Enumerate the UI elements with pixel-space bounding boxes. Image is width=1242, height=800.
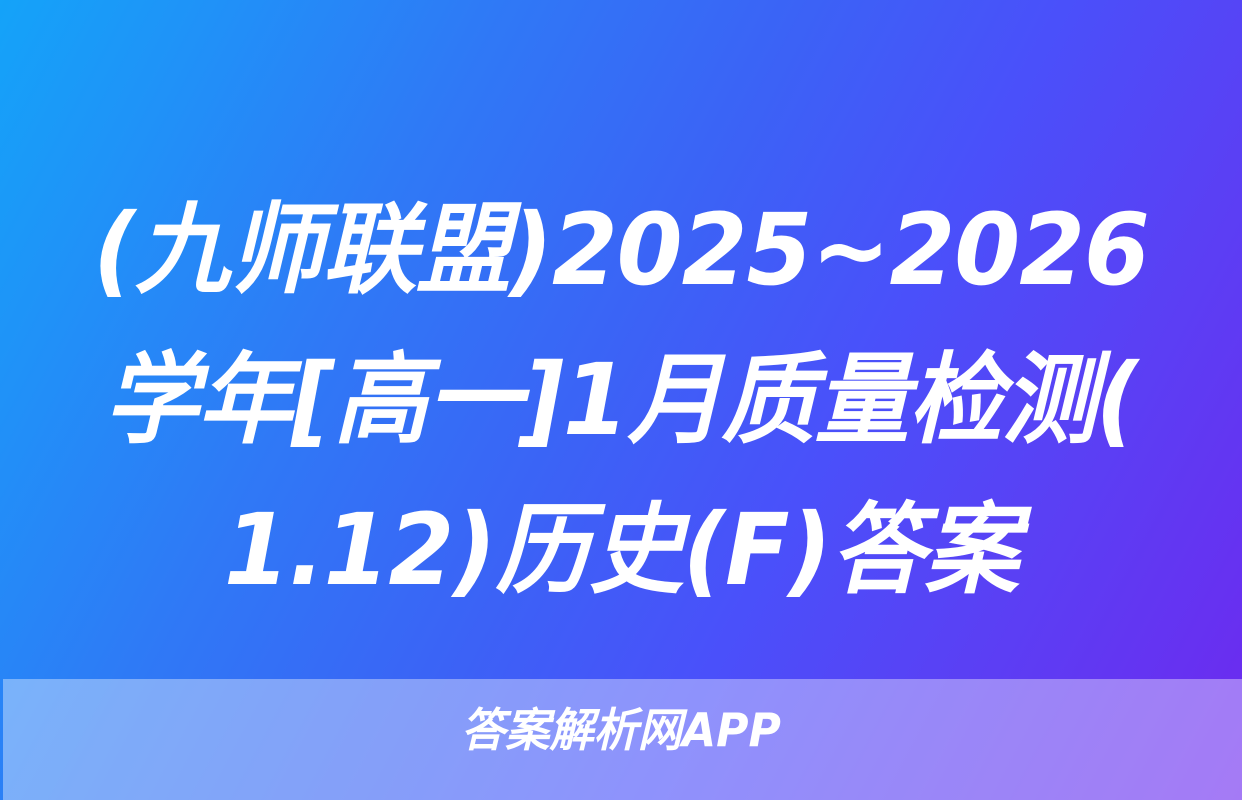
page-title: (九师联盟)2025~2026 学年[高一]1月质量检测( 1.12)历史(F)… bbox=[28, 176, 1214, 626]
poster-canvas: (九师联盟)2025~2026 学年[高一]1月质量检测( 1.12)历史(F)… bbox=[0, 0, 1242, 800]
title-line-1: (九师联盟)2025~2026 bbox=[28, 176, 1214, 326]
app-watermark: 答案解析网APP bbox=[25, 702, 1217, 758]
title-line-3: 1.12)历史(F)答案 bbox=[28, 476, 1214, 626]
title-line-2: 学年[高一]1月质量检测( bbox=[28, 326, 1214, 476]
